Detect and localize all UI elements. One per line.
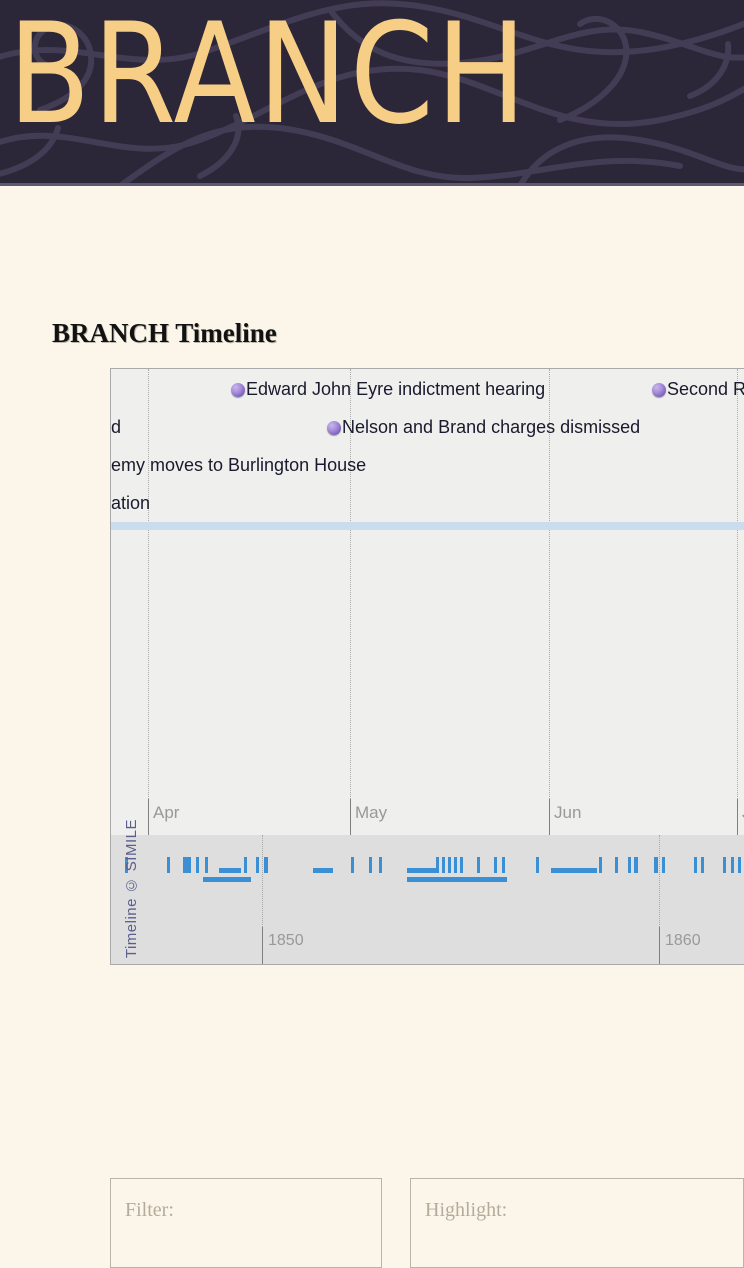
overview-density-mark <box>615 857 618 873</box>
overview-density-mark <box>628 857 631 873</box>
overview-density-mark <box>662 857 665 873</box>
event-dot-icon[interactable] <box>652 383 666 397</box>
event-dot-icon[interactable] <box>231 383 245 397</box>
overview-density-mark <box>442 857 445 873</box>
event-label: Nelson and Brand charges dismissed <box>342 417 640 437</box>
overview-density-mark <box>723 857 726 873</box>
axis-tick <box>659 927 660 965</box>
overview-density-mark <box>313 868 333 873</box>
axis-year-label: 1860 <box>665 932 701 950</box>
overview-density-mark <box>379 857 382 873</box>
overview-density-mark <box>205 857 208 873</box>
timeline-event[interactable]: ation <box>111 493 150 514</box>
overview-density-mark <box>244 857 247 873</box>
axis-tick <box>549 799 550 835</box>
highlight-panel[interactable]: Highlight: <box>410 1178 744 1268</box>
timeline-event[interactable]: Second Reform Act <box>652 379 744 400</box>
site-logo-text[interactable]: BRANCH <box>8 4 528 143</box>
timeline-band-main[interactable]: Edward John Eyre indictment hearingSecon… <box>111 369 744 835</box>
overview-density-mark <box>183 857 191 873</box>
gridline-dotted <box>148 369 149 835</box>
axis-tick-label: Jun <box>554 803 581 823</box>
overview-density-mark <box>454 857 457 873</box>
overview-density-mark <box>731 857 734 873</box>
overview-density-mark <box>536 857 539 873</box>
timeline-event[interactable]: Nelson and Brand charges dismissed <box>327 417 640 438</box>
event-label: ation <box>111 493 150 513</box>
axis-tick <box>262 927 263 965</box>
overview-density-mark <box>599 857 602 873</box>
timeline-highlight-band <box>111 522 744 530</box>
highlight-panel-legend: Highlight: <box>425 1199 507 1222</box>
timeline-event[interactable]: emy moves to Burlington House <box>111 455 366 476</box>
overview-density-mark <box>407 877 507 882</box>
gridline-dotted <box>350 369 351 835</box>
axis-tick <box>148 799 149 835</box>
overview-density-mark <box>494 857 497 873</box>
overview-density-mark <box>196 857 199 873</box>
overview-density-mark <box>634 857 638 873</box>
site-banner: BRANCH <box>0 0 744 186</box>
timeline-event[interactable]: Edward John Eyre indictment hearing <box>231 379 545 400</box>
gridline-dotted <box>737 369 738 835</box>
overview-density-mark <box>407 868 437 873</box>
overview-density-mark <box>738 857 741 873</box>
overview-density-mark <box>701 857 704 873</box>
simile-timeline-widget[interactable]: Edward John Eyre indictment hearingSecon… <box>110 368 744 965</box>
event-label: Second Reform Act <box>667 379 744 399</box>
overview-density-mark <box>448 857 451 873</box>
overview-density-mark <box>436 857 439 873</box>
event-label: emy moves to Burlington House <box>111 455 366 475</box>
event-label: d <box>111 417 121 437</box>
filter-panel-legend: Filter: <box>125 1199 174 1222</box>
axis-tick-label: Apr <box>153 803 179 823</box>
overview-density-mark <box>477 857 480 873</box>
simile-copyright-label[interactable]: Timeline © SIMILE <box>123 819 140 958</box>
axis-year-label: 1850 <box>268 932 304 950</box>
timeline-event[interactable]: d <box>111 417 121 438</box>
overview-density-mark <box>264 857 268 873</box>
axis-tick <box>737 799 738 835</box>
overview-density-mark <box>694 857 697 873</box>
axis-tick-label: May <box>355 803 387 823</box>
page-title: BRANCH Timeline <box>52 318 277 349</box>
overview-density-mark <box>167 857 170 873</box>
timeline-band-overview[interactable]: 18501860 <box>111 835 744 965</box>
overview-density-mark <box>551 868 597 873</box>
gridline-dotted <box>549 369 550 835</box>
overview-density-mark <box>351 857 354 873</box>
overview-density-mark <box>502 857 505 873</box>
overview-density-mark <box>219 868 241 873</box>
filter-panel[interactable]: Filter: <box>110 1178 382 1268</box>
event-dot-icon[interactable] <box>327 421 341 435</box>
overview-density-mark <box>256 857 259 873</box>
axis-tick <box>350 799 351 835</box>
overview-density-mark <box>203 877 251 882</box>
overview-density-mark <box>654 857 658 873</box>
overview-density-mark <box>369 857 372 873</box>
overview-density-mark <box>460 857 463 873</box>
event-label: Edward John Eyre indictment hearing <box>246 379 545 399</box>
banner-divider <box>0 183 744 186</box>
